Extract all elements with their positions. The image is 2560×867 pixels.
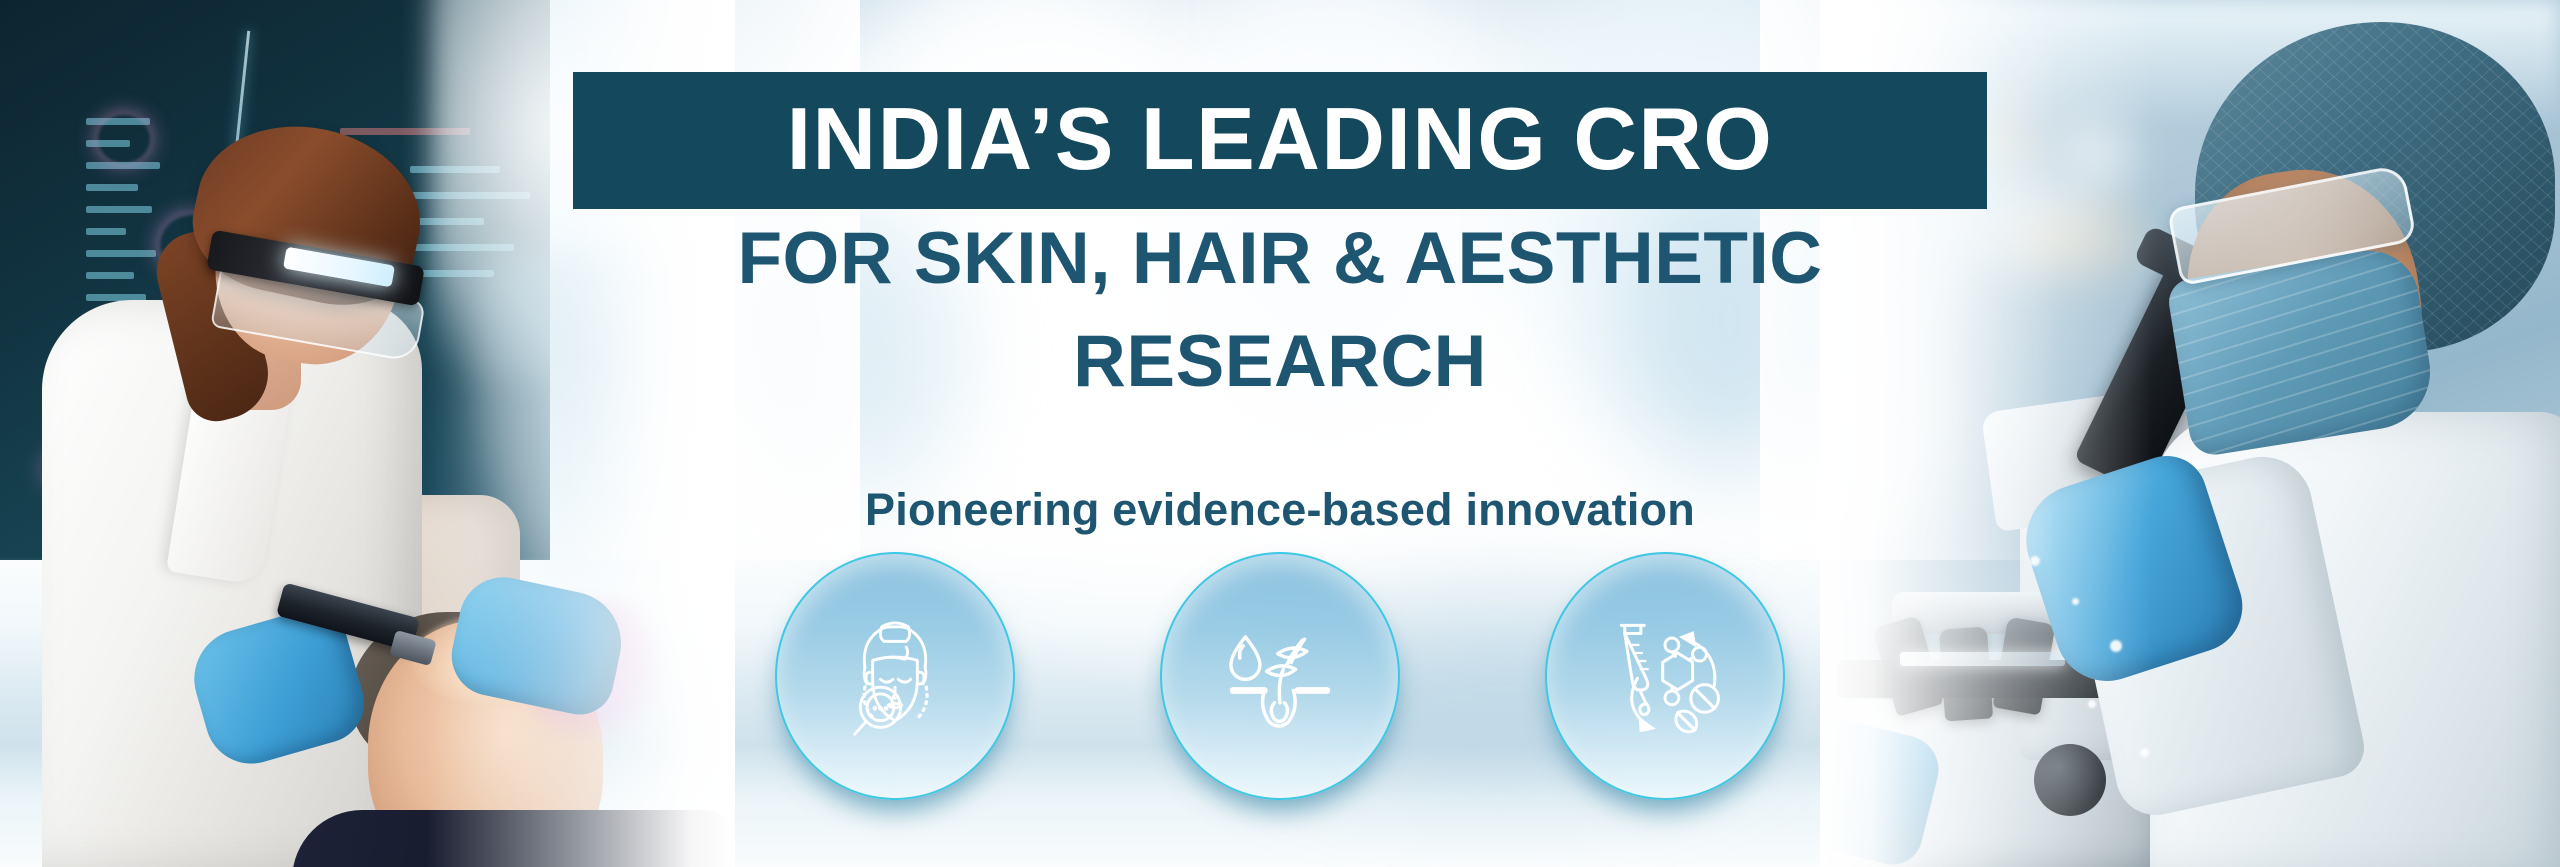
subheadline-text: Pioneering evidence-based innovation <box>0 484 2560 536</box>
feature-icon-row <box>0 552 2560 812</box>
headline-line2-text: FOR SKIN, HAIR & AESTHETIC <box>0 222 2560 295</box>
headline-line1-text: INDIA’S LEADING CRO <box>787 95 1774 187</box>
feature-circle-aesthetic[interactable] <box>1545 552 1785 800</box>
headline-line3-text: RESEARCH <box>0 325 2560 398</box>
feature-circle-skin[interactable] <box>775 552 1015 800</box>
hero-banner: INDIA’S LEADING CRO FOR SKIN, HAIR & AES… <box>0 0 2560 867</box>
hair-follicle-icon <box>1213 609 1347 743</box>
skin-analysis-icon <box>828 609 962 743</box>
headline-banner-line1: INDIA’S LEADING CRO <box>573 72 1987 209</box>
feature-circle-hair[interactable] <box>1160 552 1400 800</box>
aesthetic-formulation-icon <box>1596 607 1734 745</box>
